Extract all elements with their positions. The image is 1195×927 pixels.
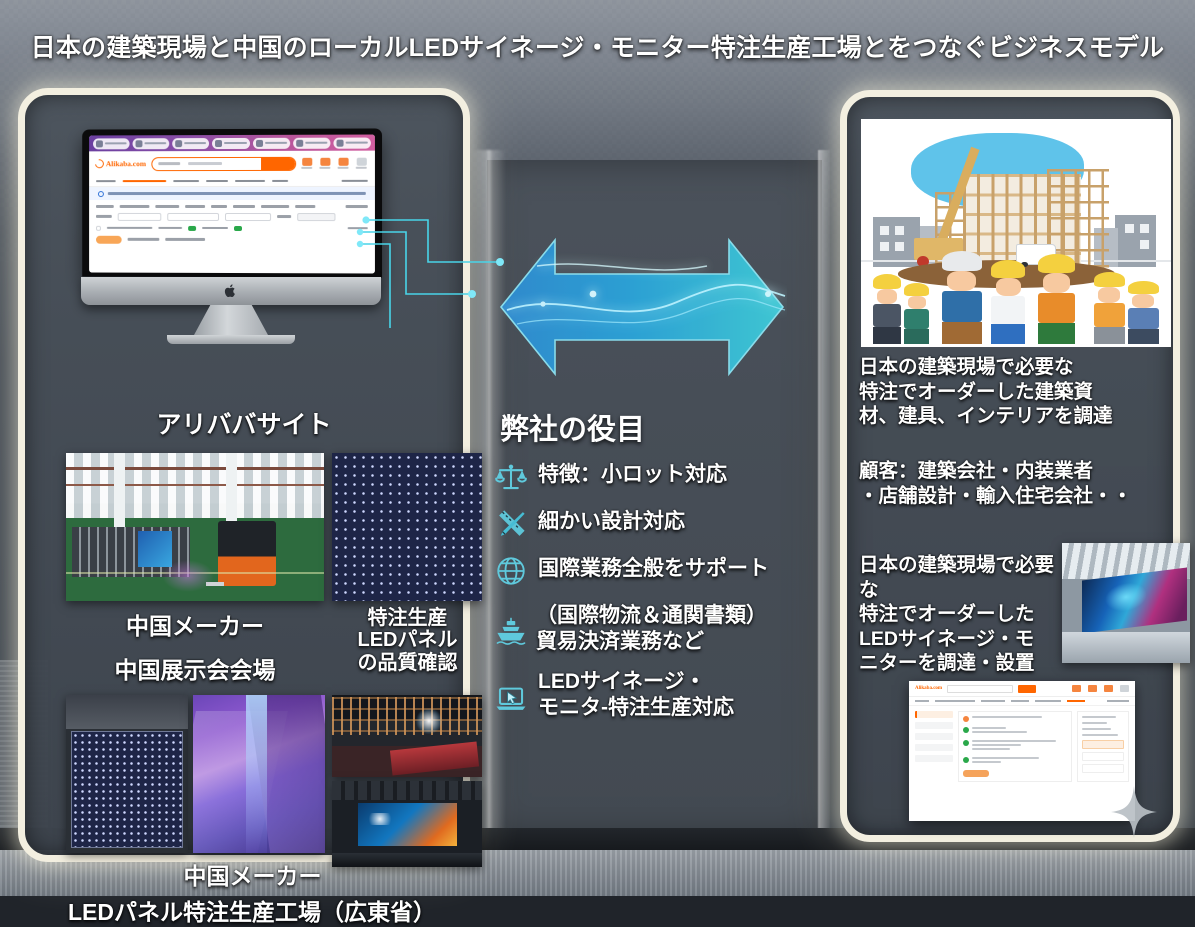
photo-led-panel-wiring	[332, 695, 482, 777]
worker-figure	[904, 283, 929, 342]
orders-icon[interactable]	[1072, 685, 1081, 692]
list-item: 細かい設計対応	[494, 507, 829, 541]
status-icon	[963, 757, 969, 763]
category-chip[interactable]	[93, 138, 130, 149]
center-role-list: 特徴：小ロット対応 細かい設計対応 国際業務全般をサポート	[494, 460, 829, 733]
dashboard-logo: Alikaba.com	[915, 686, 942, 691]
trace-node-icon	[357, 241, 363, 247]
illustration-construction-site	[861, 119, 1171, 347]
messages-icon[interactable]	[1088, 685, 1097, 692]
alibaba-filter-area	[89, 200, 375, 274]
cart-icon[interactable]	[1104, 685, 1113, 692]
info-card[interactable]	[1082, 764, 1124, 773]
worker-figure	[1094, 272, 1125, 343]
category-icon	[256, 139, 263, 146]
photo-exhibition-purple-panels	[193, 695, 325, 853]
timeline-row	[963, 757, 1067, 765]
imac-chin	[81, 277, 381, 305]
circuit-traces	[352, 198, 512, 338]
dashboard-nav	[909, 697, 1135, 706]
category-chip[interactable]	[293, 137, 330, 148]
dashboard-search-input[interactable]	[947, 685, 1013, 693]
timeline-row	[963, 716, 1067, 722]
category-chip[interactable]	[172, 138, 209, 149]
trace-node-icon	[468, 290, 476, 298]
category-icon	[136, 140, 143, 147]
photo-led-signage-mall	[1062, 543, 1190, 663]
dashboard-body	[909, 706, 1135, 787]
timeline-row	[963, 740, 1067, 752]
page-title: 日本の建築現場と中国のローカルLEDサイネージ・モニター特注生産工場とをつなぐビ…	[0, 28, 1195, 64]
sparkle-star-icon	[1111, 786, 1157, 838]
category-icon	[336, 139, 343, 146]
status-icon	[963, 716, 969, 722]
right-panel-japan: 日本の建築現場で必要な 特注でオーダーした建築資 材、建具、インテリアを調達 顧…	[840, 90, 1180, 842]
center-heading: 弊社の役目	[500, 406, 645, 448]
worker-figure	[1038, 254, 1075, 343]
alibaba-header: Alikaba.com	[89, 151, 375, 177]
list-item-text: 細かい設計対応	[538, 507, 685, 535]
list-item: LEDサイネージ・ モニタ-特注生産対応	[494, 667, 829, 720]
apple-logo-icon	[225, 284, 238, 299]
label-china-maker-2: 中国メーカー	[45, 857, 460, 891]
category-chip[interactable]	[253, 137, 290, 148]
category-icon	[96, 140, 103, 147]
alibaba-logo-text: Alikaba.com	[106, 159, 146, 168]
imac-monitor: Alikaba.com	[81, 129, 381, 344]
alibaba-notice-bar	[89, 187, 375, 200]
sidebar-item[interactable]	[915, 711, 953, 718]
list-item: 特徴：小ロット対応	[494, 460, 829, 494]
account-icon[interactable]	[1120, 685, 1129, 692]
info-icon	[98, 191, 104, 197]
account-icon[interactable]	[356, 157, 367, 169]
green-chip	[234, 226, 242, 231]
worker-figure	[942, 251, 982, 342]
apply-button[interactable]	[96, 235, 122, 243]
ship-icon	[494, 615, 528, 649]
filter-row	[96, 205, 368, 208]
imac-stand-neck	[194, 305, 268, 335]
category-icon	[215, 140, 222, 147]
worker-figure	[1128, 281, 1159, 343]
photo-led-panel-dot-grid	[66, 695, 188, 853]
label-quality-check: 特注生産 LEDパネル の品質確認	[330, 607, 485, 674]
list-item-text: 特徴：小ロット対応	[538, 460, 727, 488]
category-chip[interactable]	[212, 137, 249, 148]
checkbox[interactable]	[96, 225, 101, 230]
highlight-card[interactable]	[1082, 740, 1124, 749]
dashboard-header-icons	[1072, 685, 1129, 692]
photo-led-display-showroom	[332, 781, 482, 867]
right-text-led-signage: 日本の建築現場で必要な 特注でオーダーした LEDサイネージ・モ ニターを調達・…	[859, 553, 1069, 676]
category-icon	[296, 139, 303, 146]
filter-row	[96, 212, 368, 220]
search-input[interactable]	[151, 156, 296, 170]
category-chip[interactable]	[333, 137, 371, 148]
trace-node-icon	[362, 216, 369, 223]
status-icon	[963, 727, 969, 733]
label-led-factory: LEDパネル特注生産工場（広東省）	[37, 893, 467, 927]
ruler-pencil-icon	[494, 507, 528, 541]
search-button[interactable]	[261, 156, 295, 170]
dashboard-search-button[interactable]	[1018, 685, 1036, 693]
filter-select[interactable]	[118, 212, 162, 220]
filter-select[interactable]	[167, 212, 219, 220]
list-item: （国際物流＆通関書類） 貿易決済業務など	[494, 601, 829, 654]
photo-factory-interior	[66, 453, 324, 601]
dashboard-header: Alikaba.com	[909, 681, 1135, 697]
category-chip[interactable]	[133, 138, 170, 149]
worker-figure	[873, 274, 901, 342]
orders-icon[interactable]	[301, 158, 312, 170]
label-alibaba-site: アリババサイト	[25, 405, 463, 441]
sidebar-item[interactable]	[915, 755, 953, 762]
cart-icon[interactable]	[337, 157, 348, 169]
dashboard-side-card	[1077, 711, 1129, 782]
imac-screen: Alikaba.com	[82, 128, 382, 277]
list-item-text: LEDサイネージ・ モニタ-特注生産対応	[538, 667, 734, 720]
alibaba-website-mock[interactable]: Alikaba.com	[89, 135, 375, 274]
photo-led-panel-closeup	[332, 453, 482, 601]
alibaba-breadcrumb-nav	[89, 176, 375, 187]
info-card[interactable]	[1082, 752, 1124, 761]
list-item: 国際業務全般をサポート	[494, 554, 829, 588]
bidirectional-arrow-icon	[497, 232, 787, 382]
alibaba-logo[interactable]: Alikaba.com	[95, 159, 146, 168]
dashboard-timeline	[958, 711, 1072, 782]
balance-scale-icon	[494, 460, 528, 494]
timeline-row	[963, 727, 1067, 735]
alibaba-mark-icon	[93, 158, 105, 170]
price-input[interactable]	[297, 213, 335, 221]
filter-row	[96, 235, 368, 243]
category-icon	[175, 140, 182, 147]
right-text-materials: 日本の建築現場で必要な 特注でオーダーした建築資 材、建具、インテリアを調達	[859, 355, 1177, 429]
label-china-maker-1: 中国メーカー	[55, 607, 335, 641]
sidebar-item[interactable]	[915, 722, 953, 729]
list-item-text: 国際業務全般をサポート	[538, 554, 769, 582]
messages-icon[interactable]	[319, 158, 330, 170]
list-item-text: （国際物流＆通関書類） 貿易決済業務など	[536, 601, 767, 654]
trace-node-icon	[357, 229, 363, 235]
green-chip	[188, 225, 196, 230]
status-icon	[963, 740, 969, 746]
filter-row	[96, 225, 368, 230]
photo-order-dashboard-screenshot[interactable]: Alikaba.com	[909, 681, 1135, 821]
dashboard-sidebar	[915, 711, 953, 782]
label-china-expo: 中国展示会会場	[55, 651, 335, 685]
imac-stand-base	[167, 335, 295, 344]
sidebar-item[interactable]	[915, 733, 953, 740]
globe-icon	[494, 554, 528, 588]
sidebar-item[interactable]	[915, 744, 953, 751]
alibaba-category-bar	[89, 135, 375, 152]
filter-select[interactable]	[225, 212, 271, 220]
header-icons	[301, 157, 369, 169]
laptop-cursor-icon	[494, 681, 528, 715]
search-badge	[280, 156, 292, 157]
dashboard-action-button[interactable]	[963, 770, 989, 777]
worker-figure	[991, 260, 1025, 342]
right-text-customers: 顧客：建築会社・内装業者 ・店舗設計・輸入住宅会社・・	[859, 459, 1177, 508]
